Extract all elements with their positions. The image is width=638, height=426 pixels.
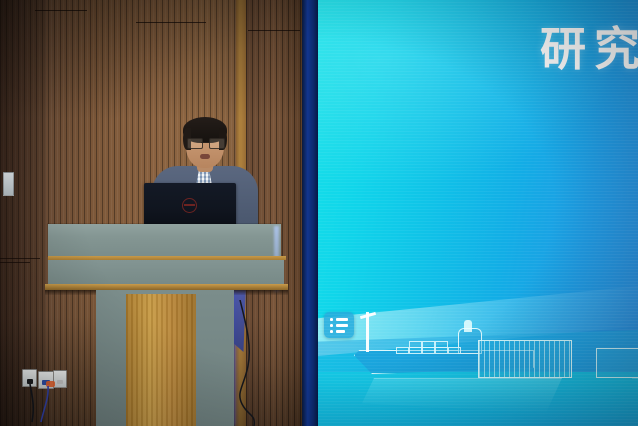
podium-mid-panel (48, 260, 284, 284)
port-reflection (632, 378, 638, 405)
outlet-cables (18, 376, 78, 426)
podium-wood-panel (126, 294, 196, 426)
hanging-cable (232, 300, 282, 426)
wall-seam-5 (0, 262, 30, 263)
wall-vignette-top (0, 0, 340, 120)
container (435, 341, 448, 348)
mouth (200, 154, 210, 159)
container (448, 347, 461, 354)
port-container-stack (478, 340, 572, 378)
podium-top-panel (48, 224, 281, 256)
ship-mast (366, 312, 369, 352)
screen-title-text: 研究 (540, 26, 638, 72)
container (409, 341, 422, 348)
list-line (336, 330, 345, 333)
list-bullet (330, 324, 333, 327)
list-line (336, 324, 348, 327)
projection-screen: 研究 (302, 0, 638, 426)
ship-containers (396, 338, 476, 354)
container (422, 347, 435, 354)
laptop (144, 183, 236, 226)
ship-funnel (464, 320, 472, 332)
white-wall-plate (3, 172, 14, 196)
list-icon[interactable] (324, 312, 354, 338)
container (422, 341, 435, 348)
list-bullet (330, 318, 333, 321)
list-line (336, 318, 348, 321)
container (409, 347, 422, 354)
port-container-stack-2 (596, 348, 638, 378)
container (396, 347, 409, 354)
container-ridges (479, 341, 571, 377)
wall-seam-4 (0, 258, 40, 259)
dell-logo-icon (182, 198, 197, 213)
lens-right (209, 138, 225, 149)
screen-bezel (302, 0, 318, 426)
eyeglasses (187, 138, 223, 147)
list-bullet (330, 330, 333, 333)
glasses-bridge (201, 142, 209, 143)
lens-left (187, 138, 203, 149)
container (435, 347, 448, 354)
presentation-photo: 研究 (0, 0, 638, 426)
